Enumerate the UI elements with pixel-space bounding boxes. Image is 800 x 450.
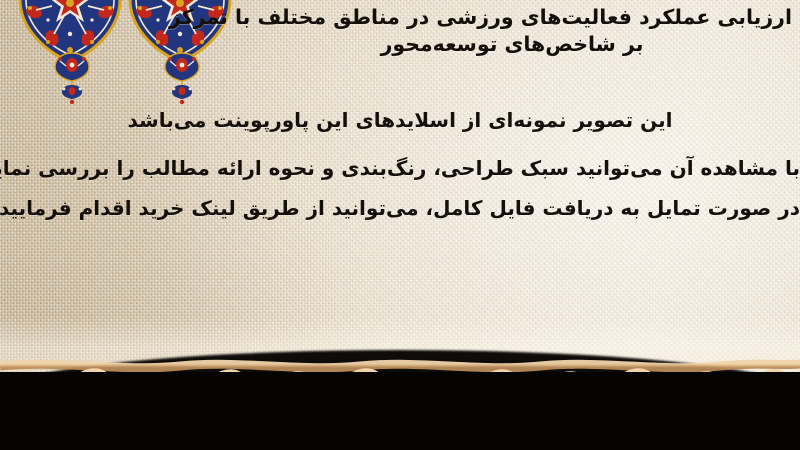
body-line-3: در صورت تمایل به دریافت فایل کامل، می‌تو… — [0, 196, 800, 220]
slide-body: این تصویر نمونه‌ای از اسلایدهای این پاور… — [0, 108, 800, 236]
title-line-2: بر شاخص‌های توسعه‌محور — [232, 31, 792, 58]
title-line-1: ارزیابی عملکرد فعالیت‌های ورزشی در مناطق… — [232, 4, 792, 31]
slide-canvas: ارزیابی عملکرد فعالیت‌های ورزشی در مناطق… — [0, 0, 800, 450]
fringe-black-field — [0, 372, 800, 450]
slide-title: ارزیابی عملکرد فعالیت‌های ورزشی در مناطق… — [232, 4, 792, 58]
body-line-2: با مشاهده آن می‌توانید سبک طراحی، رنگ‌بن… — [0, 156, 800, 180]
body-line-1: این تصویر نمونه‌ای از اسلایدهای این پاور… — [0, 108, 800, 132]
